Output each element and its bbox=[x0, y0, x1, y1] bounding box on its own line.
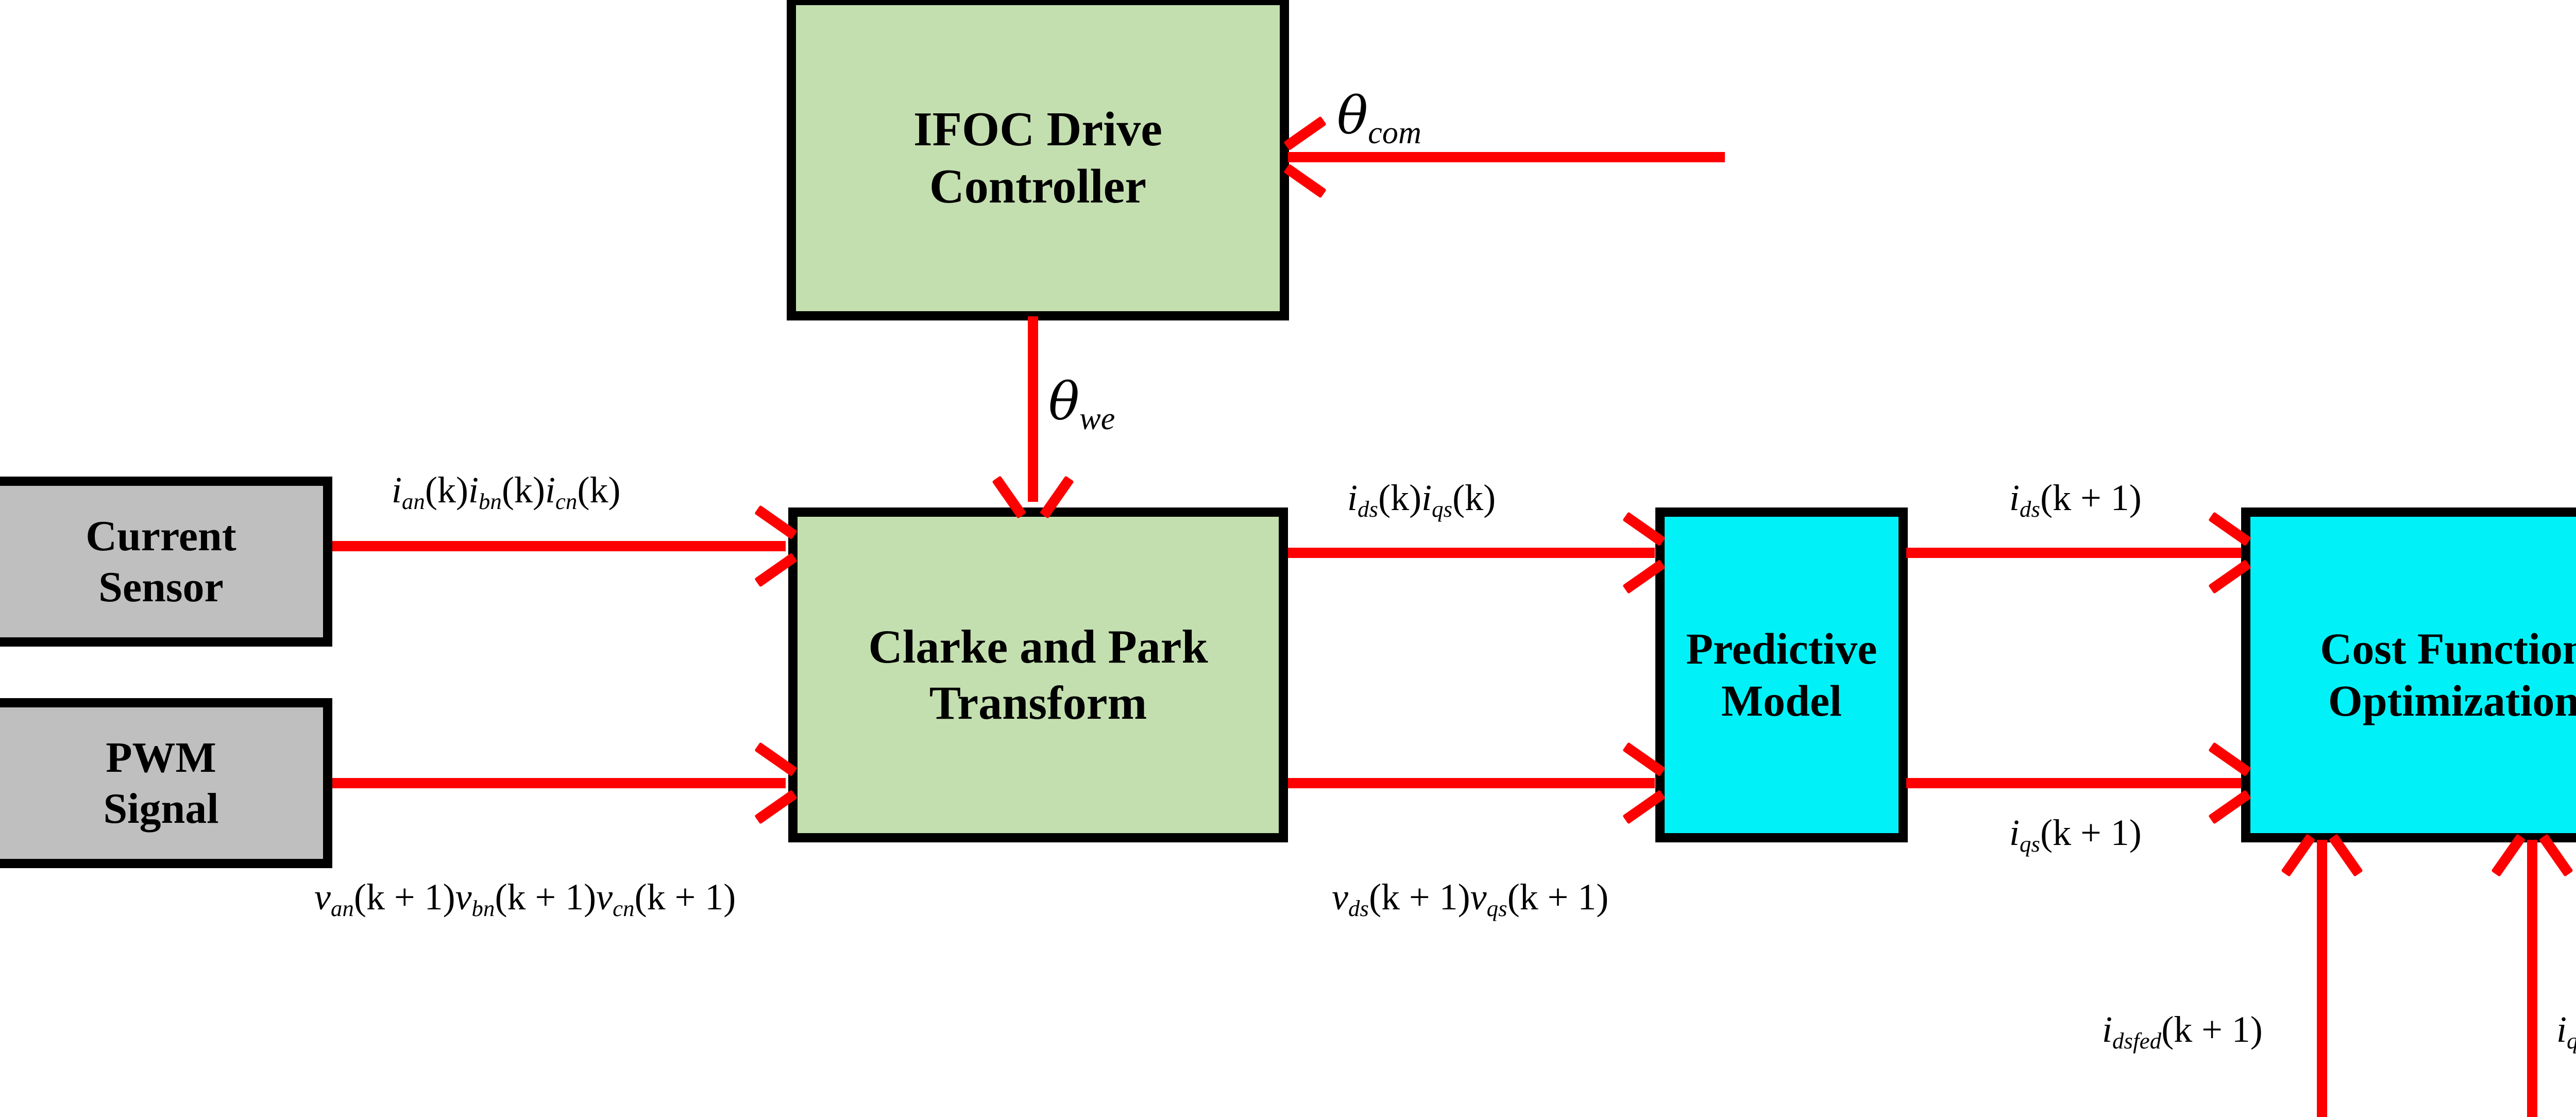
label-i-ds-k1: ids(k + 1) bbox=[2009, 479, 2142, 516]
i-qs-k1-arg: (k + 1) bbox=[2040, 812, 2142, 853]
i-qs-k-sym: i bbox=[1421, 477, 1432, 518]
theta-com-subscript: com bbox=[1368, 115, 1421, 150]
block-predictive-model[interactable]: Predictive Model bbox=[1655, 507, 1908, 842]
label-v-abc-k1: van(k + 1)vbn(k + 1)vcn(k + 1) bbox=[314, 878, 736, 916]
block-pwm-signal[interactable]: PWM Signal bbox=[0, 698, 332, 868]
connector-iqsfed-into-cost bbox=[2527, 840, 2537, 1117]
i-ds-k-sym: i bbox=[1347, 477, 1358, 518]
connector-clarke-to-predictive-upper bbox=[1288, 548, 1655, 558]
v-qs-sym: v bbox=[1470, 876, 1487, 918]
i-dsfed-sym: i bbox=[2102, 1009, 2112, 1050]
label-theta-we: θwe bbox=[1048, 376, 1115, 428]
connector-feedback-segment-top bbox=[1288, 152, 1725, 162]
predictive-model-label-line2: Model bbox=[1721, 675, 1842, 727]
i-an-sym: i bbox=[392, 469, 402, 511]
v-bn-sym: v bbox=[455, 876, 472, 918]
predictive-model-label-line1: Predictive bbox=[1686, 623, 1877, 675]
v-qs-arg: (k + 1) bbox=[1507, 876, 1609, 918]
i-an-sub: an bbox=[402, 488, 425, 514]
label-i-abc-k: ian(k)ibn(k)icn(k) bbox=[392, 471, 621, 509]
block-current-sensor[interactable]: Current Sensor bbox=[0, 477, 332, 647]
v-an-sub: an bbox=[331, 895, 354, 921]
i-qsfed-sym: i bbox=[2556, 1009, 2567, 1050]
connector-predictive-to-cost-lower bbox=[1906, 778, 2241, 788]
i-ds-k1-sub: ds bbox=[2020, 496, 2040, 522]
theta-glyph: θ bbox=[1048, 371, 1079, 432]
v-qs-sub: qs bbox=[1487, 895, 1507, 921]
v-ds-sym: v bbox=[1332, 876, 1348, 918]
ifoc-drive-controller-label-line1: IFOC Drive bbox=[913, 101, 1162, 158]
v-ds-arg: (k + 1) bbox=[1369, 876, 1470, 918]
v-an-sym: v bbox=[314, 876, 331, 918]
v-an-arg: (k + 1) bbox=[354, 876, 455, 918]
connector-pwm-to-clarke bbox=[332, 778, 786, 788]
i-cn-arg: (k) bbox=[578, 469, 621, 511]
block-clarke-and-park-transform[interactable]: Clarke and Park Transform bbox=[788, 507, 1288, 842]
v-cn-sub: cn bbox=[613, 895, 635, 921]
label-i-dsfed-k1: idsfed(k + 1) bbox=[2102, 1011, 2263, 1048]
i-qsfed-sub: qsfed bbox=[2567, 1028, 2576, 1054]
i-bn-sub: bn bbox=[479, 488, 502, 514]
label-theta-com: θcom bbox=[1337, 90, 1421, 142]
theta-glyph: θ bbox=[1337, 86, 1368, 146]
i-qs-k-arg: (k) bbox=[1452, 477, 1496, 518]
i-qs-k1-sub: qs bbox=[2020, 831, 2040, 857]
pwm-signal-label-line2: Signal bbox=[103, 783, 218, 834]
v-bn-arg: (k + 1) bbox=[495, 876, 597, 918]
v-cn-sym: v bbox=[596, 876, 613, 918]
label-i-dqs-k: ids(k)iqs(k) bbox=[1347, 479, 1496, 516]
i-bn-sym: i bbox=[468, 469, 479, 511]
connector-ifoc-to-clarke bbox=[1028, 316, 1038, 502]
i-qs-k1-sym: i bbox=[2009, 812, 2020, 853]
theta-we-subscript: we bbox=[1079, 401, 1115, 436]
connector-current-sensor-to-clarke bbox=[332, 541, 786, 551]
i-ds-k-sub: ds bbox=[1358, 496, 1378, 522]
i-ds-k1-arg: (k + 1) bbox=[2040, 477, 2142, 518]
clarke-park-label-line2: Transform bbox=[929, 675, 1147, 731]
pwm-signal-label-line1: PWM bbox=[106, 732, 216, 783]
i-cn-sym: i bbox=[545, 469, 555, 511]
i-dsfed-arg: (k + 1) bbox=[2161, 1009, 2263, 1050]
label-v-dqs-k1: vds(k + 1)vqs(k + 1) bbox=[1332, 878, 1608, 916]
connector-predictive-to-cost-upper bbox=[1906, 548, 2241, 558]
ifoc-drive-controller-label-line2: Controller bbox=[929, 158, 1146, 215]
current-sensor-label-line1: Current bbox=[86, 511, 236, 562]
connector-clarke-to-predictive-lower bbox=[1288, 778, 1655, 788]
label-i-qs-k1: iqs(k + 1) bbox=[2009, 814, 2142, 851]
block-diagram-canvas: IFOC Drive Controller Current Sensor PWM… bbox=[0, 0, 2576, 1117]
v-ds-sub: ds bbox=[1348, 895, 1369, 921]
cost-function-label-line2: Optimization bbox=[2328, 675, 2576, 727]
i-an-arg: (k) bbox=[425, 469, 468, 511]
current-sensor-label-line2: Sensor bbox=[98, 562, 224, 613]
cost-function-label-line1: Cost Function bbox=[2320, 623, 2576, 675]
i-ds-k-arg: (k) bbox=[1378, 477, 1421, 518]
i-ds-k1-sym: i bbox=[2009, 477, 2020, 518]
block-ifoc-drive-controller[interactable]: IFOC Drive Controller bbox=[787, 0, 1289, 320]
v-cn-arg: (k + 1) bbox=[635, 876, 736, 918]
clarke-park-label-line1: Clarke and Park bbox=[868, 619, 1208, 675]
label-i-qsfed-k1: iqsfed(k + 1) bbox=[2556, 1011, 2576, 1048]
i-bn-arg: (k) bbox=[502, 469, 545, 511]
i-cn-sub: cn bbox=[555, 488, 578, 514]
v-bn-sub: bn bbox=[472, 895, 495, 921]
connector-idsfed-into-cost bbox=[2317, 840, 2327, 1117]
i-qs-k-sub: qs bbox=[1432, 496, 1452, 522]
i-dsfed-sub: dsfed bbox=[2112, 1028, 2161, 1054]
block-cost-function-optimization[interactable]: Cost Function Optimization bbox=[2241, 507, 2576, 842]
